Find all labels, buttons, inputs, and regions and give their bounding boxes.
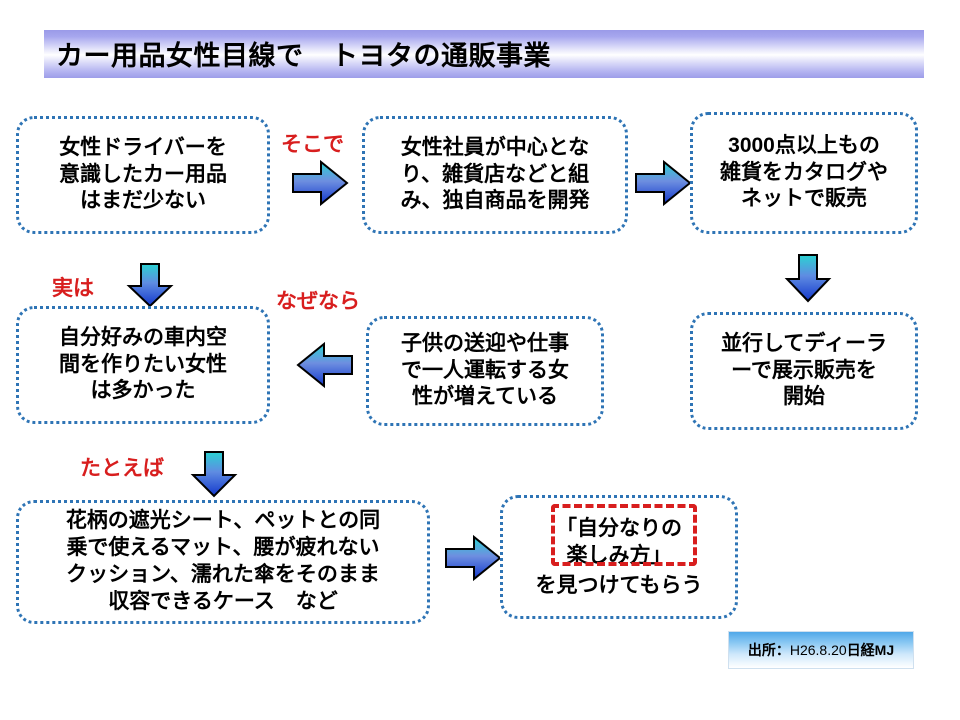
- arrow-down-2: [784, 253, 832, 303]
- arrow-left-1: [296, 341, 354, 389]
- arrow-right-3: [444, 534, 502, 582]
- box-reason: 子供の送迎や仕事 で一人運転する女 性が増えている: [366, 316, 604, 426]
- label-sokode: そこで: [281, 128, 344, 158]
- slide-canvas: カー用品女性目線で トヨタの通販事業 女性ドライバーを 意識したカー用品 はまだ…: [0, 0, 960, 720]
- source-prefix: 出所：: [748, 640, 790, 660]
- label-nazenara: なぜなら: [276, 285, 360, 315]
- box-goal: 「自分なりの 楽しみ方」 を見つけてもらう: [500, 495, 738, 619]
- source-date: H26.8.20: [790, 642, 847, 658]
- label-tatoeba: たとえば: [80, 452, 164, 482]
- box-dealer: 並行してディーラ ーで展示販売を 開始: [690, 312, 918, 430]
- box-problem: 女性ドライバーを 意識したカー用品 はまだ少ない: [16, 116, 270, 234]
- label-jitsuwa: 実は: [52, 272, 94, 302]
- source-note: 出所：H26.8.20日経MJ: [728, 631, 914, 669]
- source-publication: 日経MJ: [847, 640, 894, 660]
- arrow-right-2: [634, 159, 692, 207]
- arrow-down-3: [190, 450, 238, 498]
- box-development: 女性社員が中心とな り、雑貨店などと組 み、独自商品を開発: [362, 116, 628, 234]
- box-examples: 花柄の遮光シート、ペットとの同 乗で使えるマット、腰が疲れない クッション、濡れ…: [16, 500, 430, 624]
- arrow-right-1: [291, 159, 349, 207]
- box-insight: 自分好みの車内空 間を作りたい女性 は多かった: [16, 306, 270, 424]
- page-title: カー用品女性目線で トヨタの通販事業: [56, 34, 551, 73]
- box-sales-channel: 3000点以上もの 雑貨をカタログや ネットで販売: [690, 112, 918, 234]
- goal-emphasis-text: 「自分なりの 楽しみ方」: [546, 514, 692, 570]
- arrow-down-1: [126, 262, 174, 308]
- goal-tail-text: を見つけてもらう: [536, 573, 703, 600]
